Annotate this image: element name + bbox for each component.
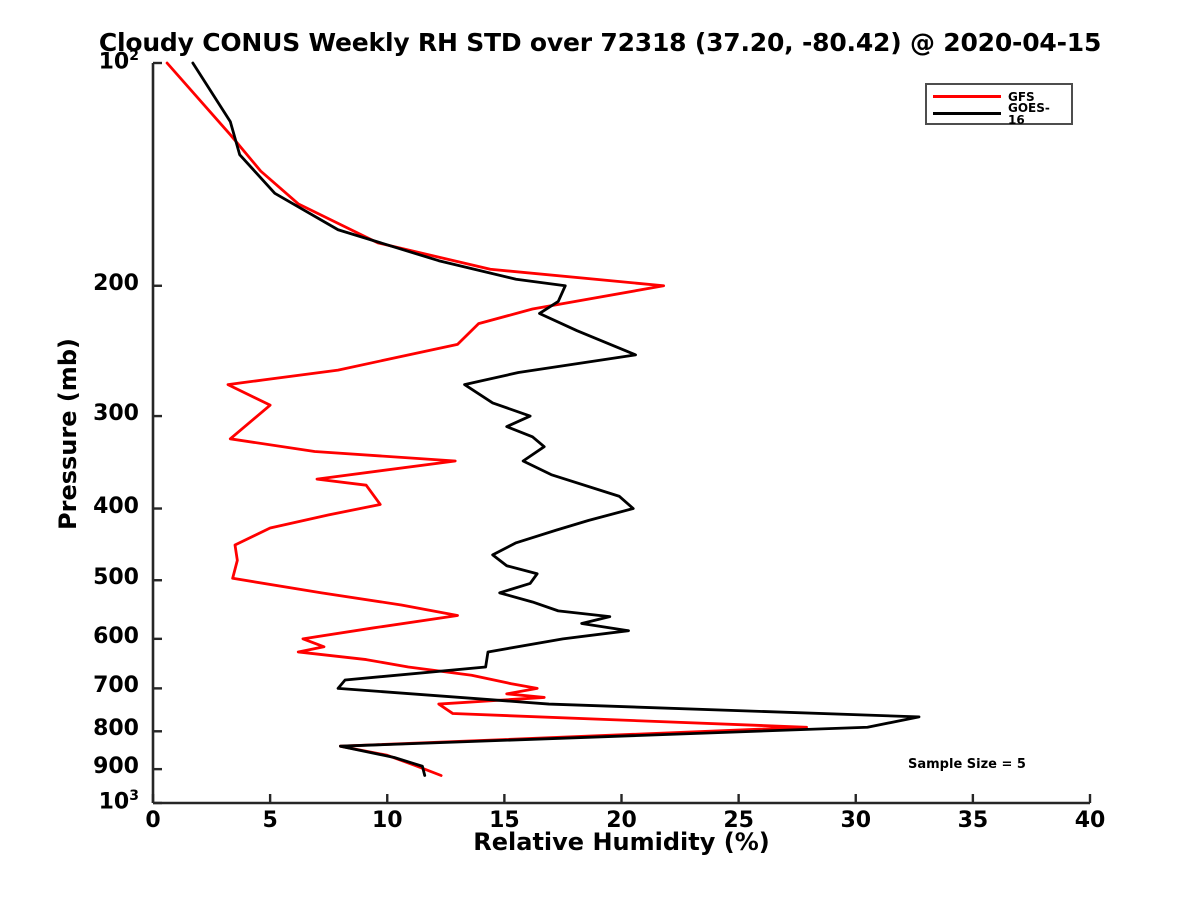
x-tick-label: 30	[826, 808, 886, 833]
x-tick-label: 10	[357, 808, 417, 833]
legend-item-goes16: GOES-16	[933, 105, 1065, 122]
y-tick-label: 900	[49, 754, 139, 779]
x-tick-label: 0	[123, 808, 183, 833]
x-tick-label: 25	[709, 808, 769, 833]
y-tick-label: 700	[49, 673, 139, 698]
legend-swatch-gfs	[933, 95, 1001, 98]
series-line-goes-16	[193, 63, 919, 776]
y-tick-label: 200	[49, 271, 139, 296]
x-tick-label: 20	[592, 808, 652, 833]
y-tick-label: 102	[49, 48, 139, 74]
y-tick-label: 600	[49, 624, 139, 649]
x-tick-label: 35	[943, 808, 1003, 833]
y-tick-label: 800	[49, 716, 139, 741]
legend: GFS GOES-16	[925, 83, 1073, 125]
legend-label-goes16: GOES-16	[1008, 102, 1065, 126]
y-tick-label: 400	[49, 494, 139, 519]
sample-size-annotation: Sample Size = 5	[908, 757, 1026, 772]
y-tick-label: 500	[49, 565, 139, 590]
y-tick-label: 300	[49, 401, 139, 426]
series-line-gfs	[167, 63, 807, 776]
x-tick-label: 40	[1060, 808, 1120, 833]
x-tick-label: 15	[474, 808, 534, 833]
legend-swatch-goes16	[933, 112, 1001, 115]
x-tick-label: 5	[240, 808, 300, 833]
figure-canvas: Cloudy CONUS Weekly RH STD over 72318 (3…	[0, 0, 1200, 900]
